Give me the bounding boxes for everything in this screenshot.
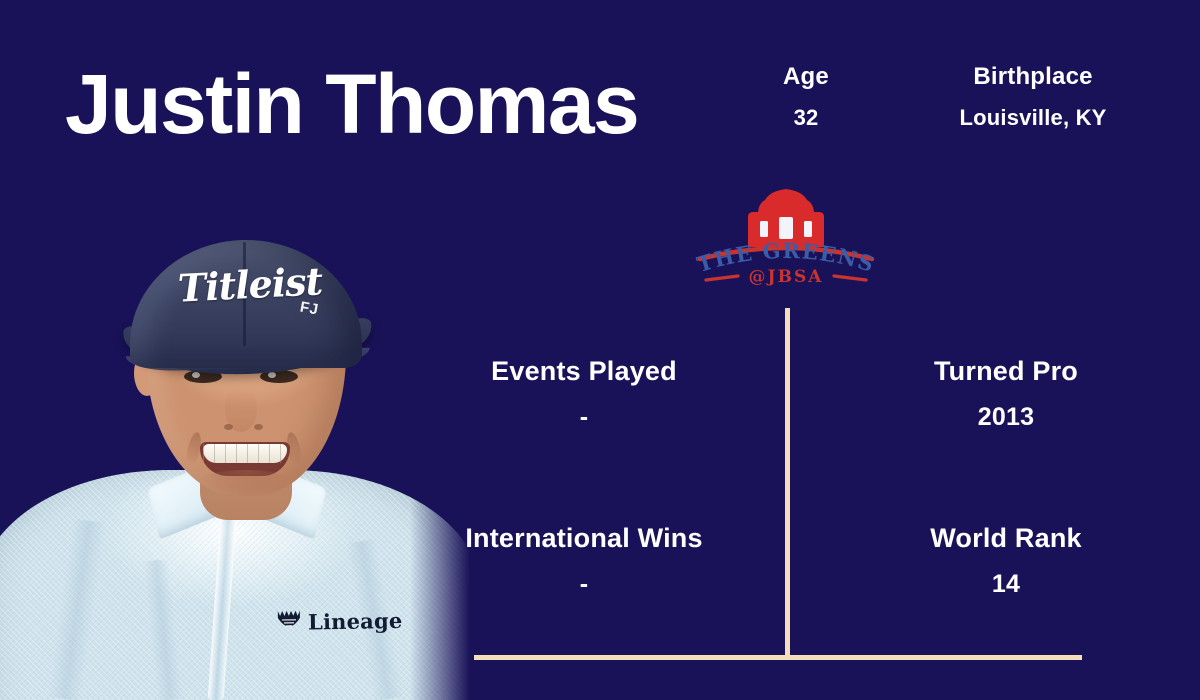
stat-birthplace-value: Louisville, KY: [902, 106, 1164, 130]
logo-sub-text: @JBSA: [749, 267, 824, 287]
stat-world-rank-label: World Rank: [866, 524, 1146, 554]
divider-horizontal: [474, 655, 1082, 660]
stat-turned-pro-value: 2013: [866, 404, 1146, 432]
stat-international-wins-label: International Wins: [436, 524, 732, 554]
player-profile-card: Titleist FJ Lineage Justin Thomas: [0, 0, 1200, 700]
stat-age-value: 32: [706, 106, 906, 130]
stat-world-rank: World Rank 14: [866, 524, 1146, 598]
stat-turned-pro: Turned Pro 2013: [866, 357, 1146, 431]
stat-birthplace: Birthplace Louisville, KY: [902, 64, 1164, 131]
crown-shield-icon: [277, 609, 301, 635]
stat-events-played-label: Events Played: [436, 357, 732, 387]
stat-international-wins-value: -: [436, 571, 732, 599]
stat-events-played: Events Played -: [436, 357, 732, 431]
page-title: Justin Thomas: [65, 62, 638, 146]
footjoy-cap-logo: FJ: [299, 299, 320, 319]
teeth-gaps: [203, 444, 287, 463]
stat-events-played-value: -: [436, 404, 732, 432]
stat-world-rank-value: 14: [866, 571, 1146, 599]
club-logo: THE GREENS @JBSA: [692, 183, 880, 288]
stat-birthplace-label: Birthplace: [902, 64, 1164, 90]
nostril-right: [254, 424, 263, 430]
logo-dash-right: [834, 276, 866, 280]
stat-international-wins: International Wins -: [436, 524, 732, 598]
nostril-left: [224, 424, 233, 430]
logo-dash-left: [706, 276, 738, 280]
eye-highlight-right: [268, 372, 276, 378]
stat-turned-pro-label: Turned Pro: [866, 357, 1146, 387]
lineage-shirt-logo: Lineage: [277, 607, 403, 635]
stat-age: Age 32: [706, 64, 906, 131]
chin-shadow: [196, 470, 296, 496]
divider-vertical: [785, 308, 790, 660]
stat-age-label: Age: [706, 64, 906, 90]
teeth: [203, 444, 287, 463]
eye-highlight-left: [192, 372, 200, 378]
lineage-wordmark: Lineage: [308, 607, 403, 634]
